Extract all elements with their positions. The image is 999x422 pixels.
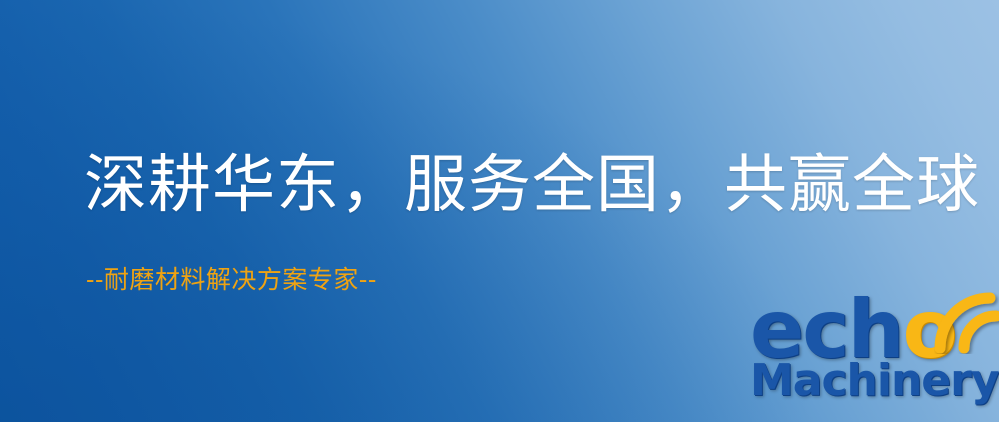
- banner-headline: 深耕华东，服务全国，共赢全球: [84, 152, 954, 218]
- logo-machinery-text: Machinery®: [750, 359, 999, 403]
- logo-machinery-word: Machinery: [750, 355, 999, 406]
- hero-banner: 深耕华东，服务全国，共赢全球 --耐磨材料解决方案专家-- echo Machi…: [0, 0, 999, 422]
- banner-subtitle: --耐磨材料解决方案专家--: [86, 265, 377, 295]
- echo-machinery-logo[interactable]: echo Machinery®: [748, 296, 999, 422]
- signal-waves-icon: [934, 292, 999, 354]
